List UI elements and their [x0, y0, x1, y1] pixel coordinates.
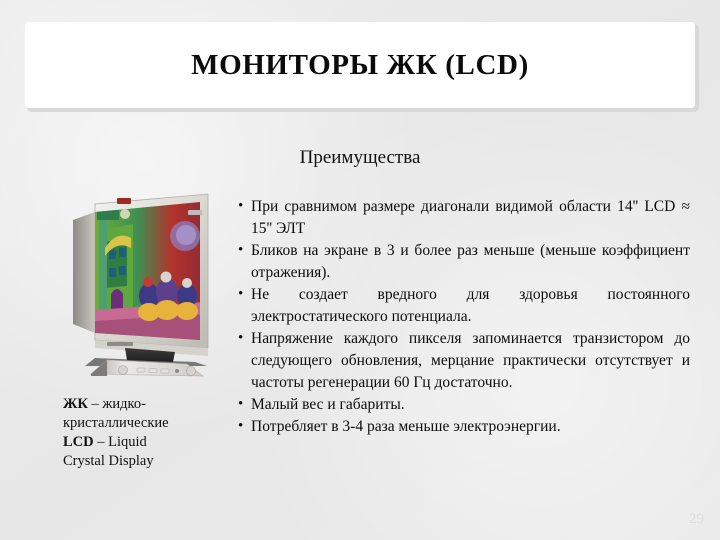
- list-item-text: Малый вес и габариты.: [251, 394, 690, 416]
- bullet-icon: •: [238, 416, 251, 437]
- caption-line-4: Crystal Display: [63, 452, 225, 471]
- list-item-text: Напряжение каждого пикселя запоминается …: [251, 328, 690, 394]
- list-item: • Напряжение каждого пикселя запоминаетс…: [238, 328, 690, 394]
- advantages-list: • При сравнимом размере диагонали видимо…: [238, 196, 690, 438]
- caption-def-3: Liquid: [108, 434, 147, 450]
- list-item: • Бликов на экране в 3 и более раз меньш…: [238, 240, 690, 284]
- page-title: МОНИТОРЫ ЖК (LCD): [191, 51, 529, 80]
- lcd-monitor-photo: [55, 190, 230, 380]
- bullet-icon: •: [238, 240, 251, 261]
- caption-dash-2: –: [97, 434, 104, 450]
- caption-term-lcd: LCD: [63, 434, 94, 450]
- caption-dash-1: –: [91, 396, 98, 412]
- page-number: 29: [689, 511, 704, 528]
- bullet-icon: •: [238, 328, 251, 349]
- list-item-text: При сравнимом размере диагонали видимой …: [251, 196, 690, 240]
- list-item-text: Бликов на экране в 3 и более раз меньше …: [251, 240, 690, 284]
- illustration-caption: ЖК – жидко- кристаллические LCD – Liquid…: [63, 395, 225, 472]
- list-item-text: Не создает вредного для здоровья постоян…: [251, 284, 690, 328]
- list-item: • Малый вес и габариты.: [238, 394, 690, 416]
- bullet-icon: •: [238, 196, 251, 217]
- illustration-column: ЖК – жидко- кристаллические LCD – Liquid…: [55, 190, 230, 380]
- caption-line-3: LCD – Liquid: [63, 433, 225, 452]
- caption-def-1: жидко-: [102, 396, 146, 412]
- lcd-monitor-icon: [55, 190, 230, 380]
- list-item: • Не создает вредного для здоровья посто…: [238, 284, 690, 328]
- slide-canvas: МОНИТОРЫ ЖК (LCD) Преимущества: [0, 0, 720, 540]
- section-subtitle: Преимущества: [0, 147, 720, 169]
- title-panel: МОНИТОРЫ ЖК (LCD): [25, 22, 695, 108]
- bullet-icon: •: [238, 284, 251, 305]
- list-item: • Потребляет в 3-4 раза меньше электроэн…: [238, 416, 690, 438]
- caption-line-2: кристаллические: [63, 414, 225, 433]
- caption-line-1: ЖК – жидко-: [63, 395, 225, 414]
- caption-term-jk: ЖК: [63, 396, 88, 412]
- list-item: • При сравнимом размере диагонали видимо…: [238, 196, 690, 240]
- bullet-icon: •: [238, 394, 251, 415]
- list-item-text: Потребляет в 3-4 раза меньше электроэнер…: [251, 416, 690, 438]
